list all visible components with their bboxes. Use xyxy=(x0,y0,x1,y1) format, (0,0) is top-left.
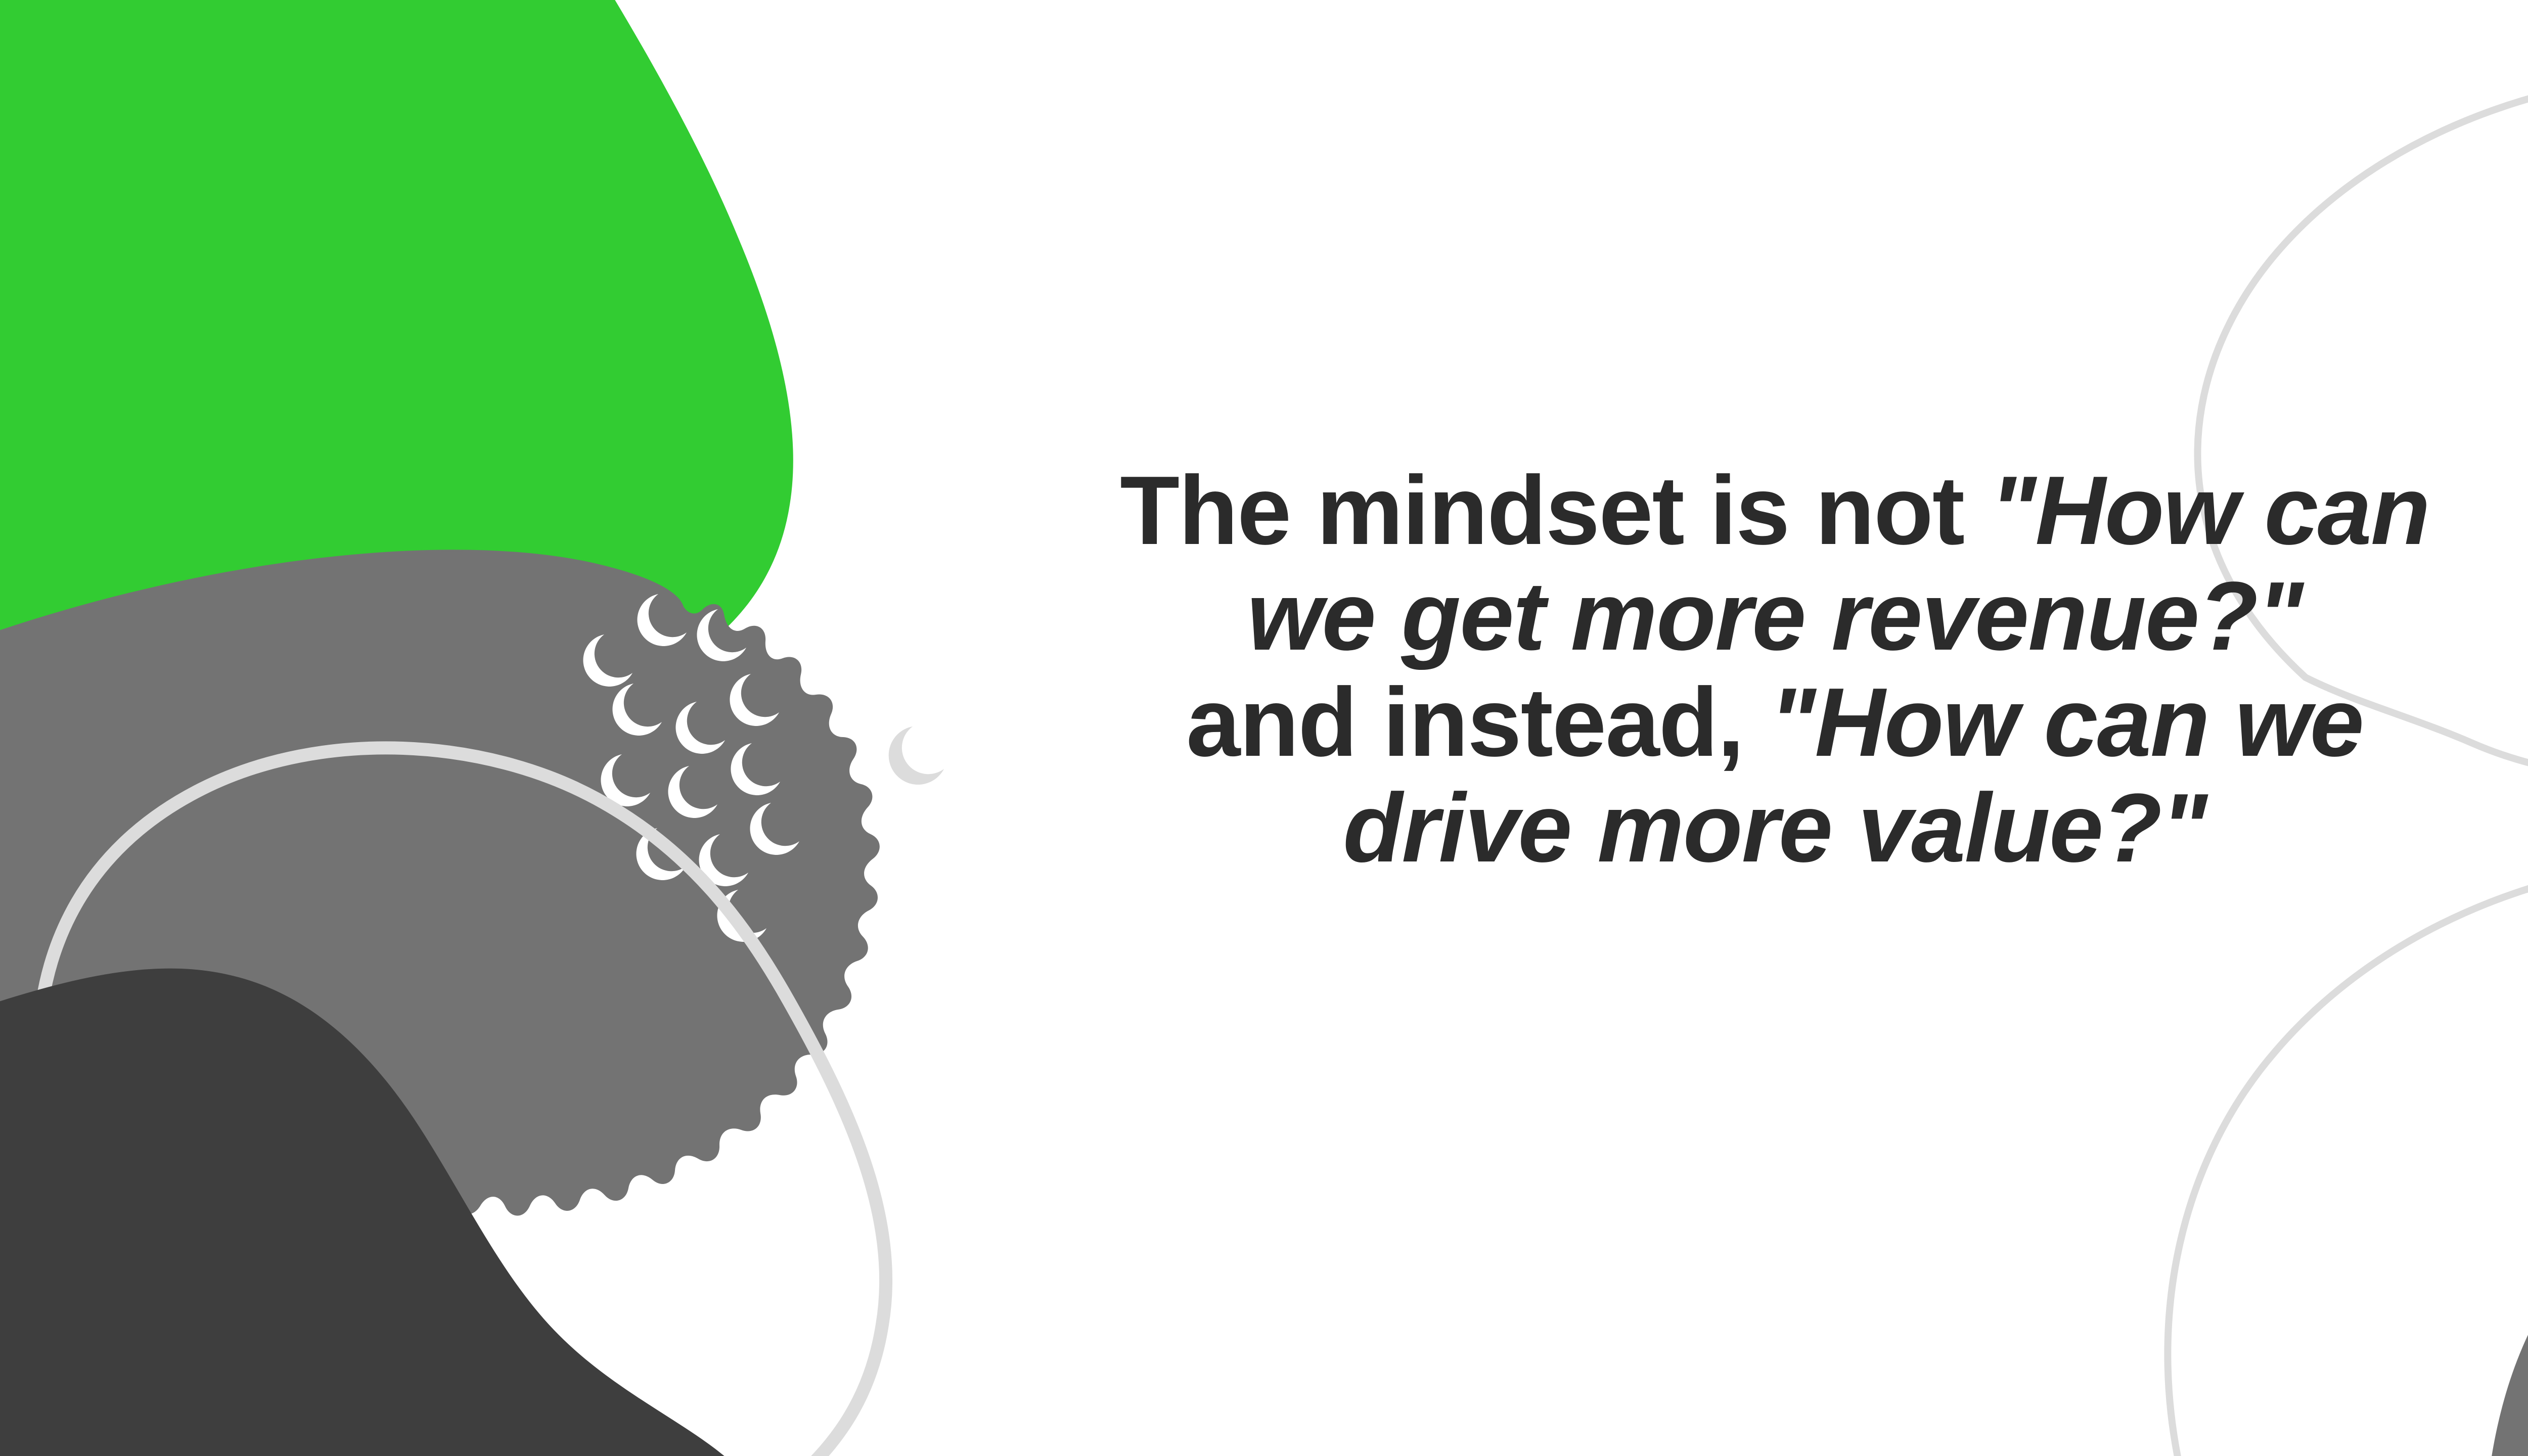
quote-line-2: we get more revenue?" xyxy=(748,563,2528,669)
quote-line-3: and instead, "How can we xyxy=(748,669,2528,775)
quote-text-block: The mindset is not "How can we get more … xyxy=(748,458,2528,881)
quote-line-1: The mindset is not "How can xyxy=(748,458,2528,563)
light-gray-outline-right-tail xyxy=(2168,859,2528,1456)
quote-line-2-quoted: we get more revenue?" xyxy=(1247,561,2302,670)
gray-blob-bottom-right xyxy=(2488,1195,2528,1456)
quote-line-1-quoted: "How can xyxy=(1990,456,2429,565)
quote-line-3-plain: and instead, xyxy=(1186,667,1770,777)
quote-graphic-canvas: The mindset is not "How can we get more … xyxy=(0,0,2528,1456)
quote-line-1-plain: The mindset is not xyxy=(1120,456,1990,565)
quote-line-3-quoted: "How can we xyxy=(1770,667,2363,777)
quote-line-4: drive more value?" xyxy=(748,775,2528,881)
quote-line-4-quoted: drive more value?" xyxy=(1343,773,2206,882)
